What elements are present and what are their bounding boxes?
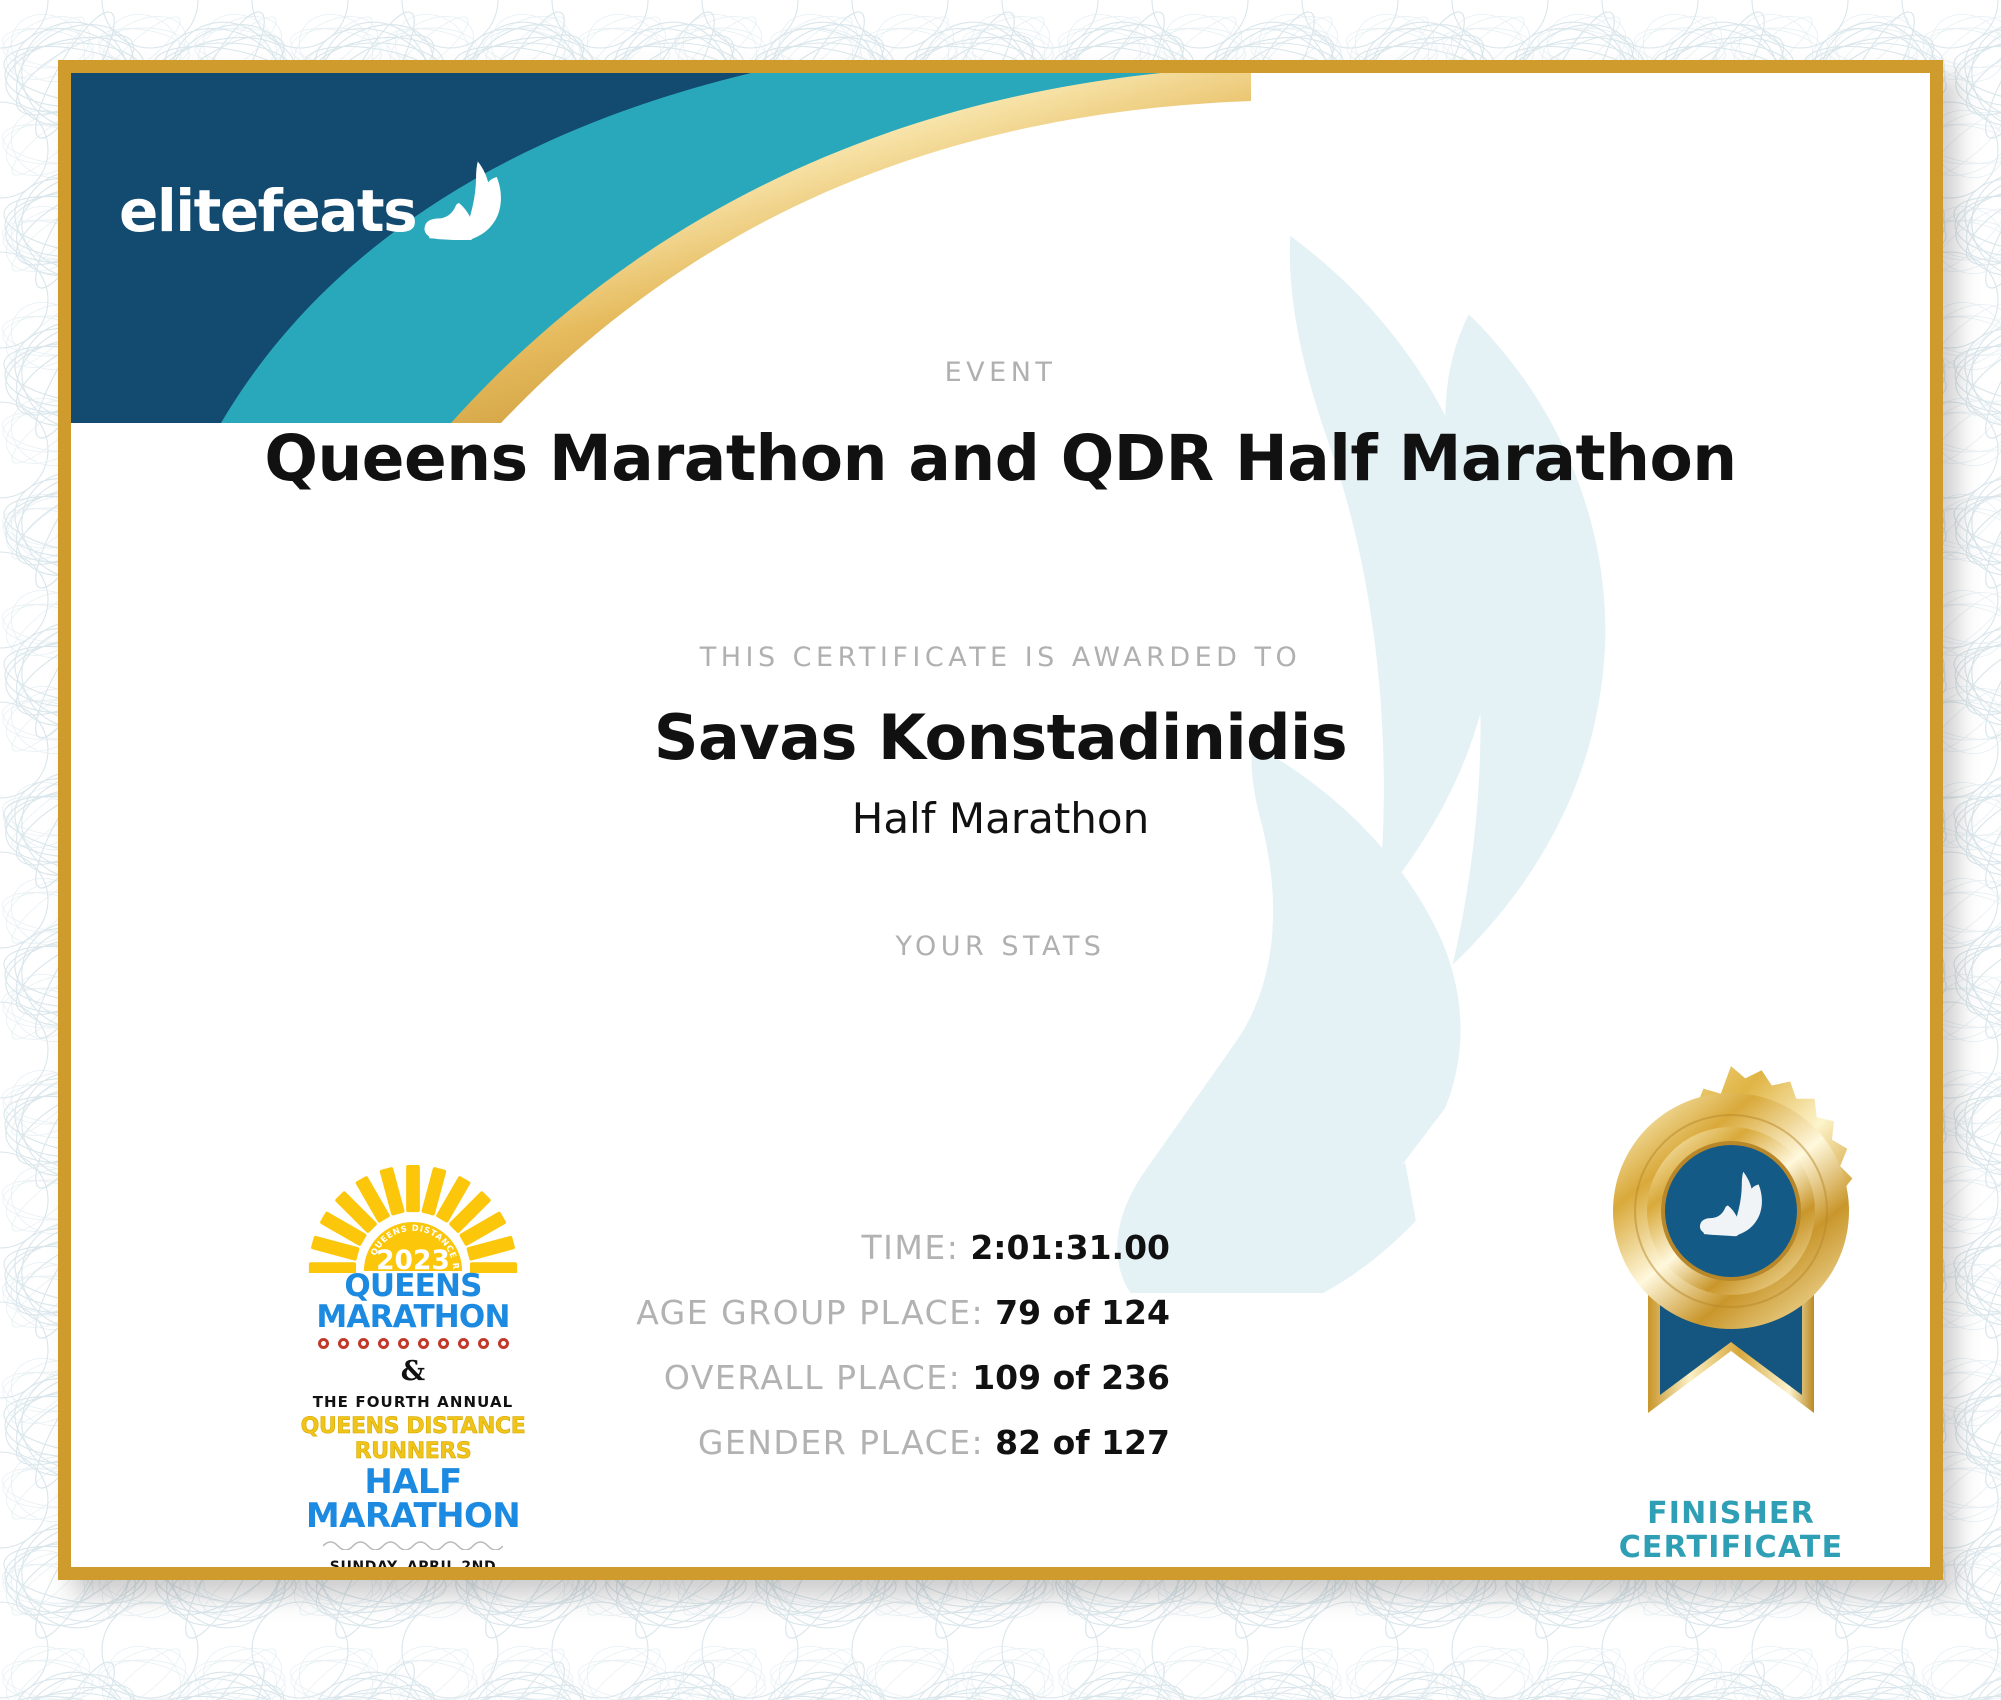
logo-dot (318, 1338, 329, 1349)
logo-dot (498, 1338, 509, 1349)
logo-date-line-2: SUNDAY, NOVEMBER 19TH (293, 1577, 533, 1580)
recipient-name: Savas Konstadinidis (71, 701, 1930, 774)
event-title: Queens Marathon and QDR Half Marathon (71, 422, 1930, 495)
logo-dot (458, 1338, 469, 1349)
distance-label: Half Marathon (71, 794, 1930, 843)
logo-dot (378, 1338, 389, 1349)
logo-ampersand: & (293, 1356, 533, 1387)
medal-disc (1613, 1066, 1852, 1329)
stat-value: 109 of 236 (972, 1358, 1170, 1397)
winged-foot-icon (420, 158, 508, 240)
logo-race-line: HALF MARATHON (293, 1465, 533, 1533)
awarded-label: THIS CERTIFICATE IS AWARDED TO (71, 642, 1930, 673)
wave-divider-icon (323, 1538, 503, 1550)
stat-value: 2:01:31.00 (970, 1228, 1170, 1267)
event-label: EVENT (71, 357, 1930, 388)
logo-date-line-1: SUNDAY, APRIL 2ND (293, 1558, 533, 1577)
logo-dot (438, 1338, 449, 1349)
logo-dot (338, 1338, 349, 1349)
brand-logo: elitefeats (119, 158, 508, 240)
logo-dot-row (293, 1338, 533, 1349)
event-logo-title: QUEENS MARATHON (293, 1271, 533, 1333)
logo-dot (398, 1338, 409, 1349)
stat-value: 82 of 127 (995, 1423, 1170, 1462)
finisher-medal: 2023 FINISHER CERTIFICA (1576, 1063, 1886, 1565)
medal-caption: FINISHER CERTIFICATE (1576, 1497, 1886, 1565)
event-logo: QUEENS DISTANCE RUNNERS 2023 QUEENS MARA… (293, 1163, 533, 1580)
stats-label: YOUR STATS (71, 931, 1930, 962)
stat-label: AGE GROUP PLACE: (636, 1293, 984, 1332)
stat-value: 79 of 124 (995, 1293, 1170, 1332)
medal-caption-line-2: CERTIFICATE (1576, 1531, 1886, 1565)
logo-dot (418, 1338, 429, 1349)
medal-graphic: 2023 (1576, 1063, 1886, 1493)
stat-label: GENDER PLACE: (698, 1423, 984, 1462)
sunburst-icon: QUEENS DISTANCE RUNNERS 2023 (293, 1163, 533, 1273)
brand-wordmark: elitefeats (119, 182, 416, 240)
logo-dot (478, 1338, 489, 1349)
stat-label: OVERALL PLACE: (664, 1358, 961, 1397)
logo-dot (358, 1338, 369, 1349)
logo-annual-line: THE FOURTH ANNUAL (293, 1393, 533, 1411)
certificate-card: elitefeats EVENT Queens Marathon and QDR… (58, 60, 1943, 1580)
medal-caption-line-1: FINISHER (1576, 1497, 1886, 1531)
logo-org-line: QUEENS DISTANCE RUNNERS (293, 1414, 533, 1464)
stat-label: TIME: (861, 1228, 959, 1267)
